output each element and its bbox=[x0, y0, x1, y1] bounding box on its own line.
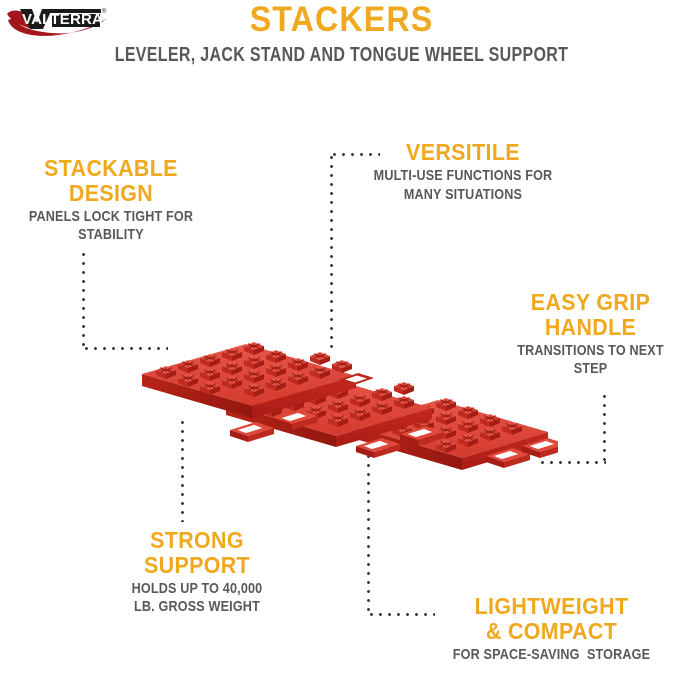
callout-title: LIGHTWEIGHT & COMPACT bbox=[429, 594, 674, 644]
connector-easygrip-vertical bbox=[603, 392, 606, 464]
callout-easy-grip-handle: EASY GRIP HANDLE TRANSITIONS TO NEXT STE… bbox=[498, 290, 683, 379]
callout-body: FOR SPACE-SAVING STORAGE bbox=[441, 646, 662, 665]
callout-title: VERSITILE bbox=[349, 140, 578, 165]
callout-title: STRONG SUPPORT bbox=[71, 528, 322, 578]
callout-body: TRANSITIONS TO NEXT STEP bbox=[513, 342, 668, 380]
callout-strong-support: STRONG SUPPORT HOLDS UP TO 40,000 LB. GR… bbox=[62, 528, 332, 617]
callout-versitile: VERSITILE MULTI-USE FUNCTIONS FOR MANY S… bbox=[340, 140, 586, 204]
callout-body: PANELS LOCK TIGHT FOR STABILITY bbox=[21, 208, 201, 246]
connector-stackable-vertical bbox=[82, 250, 85, 350]
callout-body: HOLDS UP TO 40,000 LB. GROSS WEIGHT bbox=[84, 580, 311, 618]
callout-title: STACKABLE DESIGN bbox=[11, 156, 210, 206]
infographic-page: VALTERRA ® STACKERS LEVELER, JACK STAND … bbox=[0, 0, 683, 673]
callout-title: EASY GRIP HANDLE bbox=[504, 290, 676, 340]
product-image-stacked-levelers bbox=[138, 322, 558, 482]
callout-stackable-design: STACKABLE DESIGN PANELS LOCK TIGHT FOR S… bbox=[4, 156, 218, 245]
page-title: STACKERS bbox=[27, 2, 655, 39]
callout-lightweight-compact: LIGHTWEIGHT & COMPACT FOR SPACE-SAVING S… bbox=[420, 594, 683, 664]
callout-body: MULTI-USE FUNCTIONS FOR MANY SITUATIONS bbox=[360, 167, 567, 205]
page-subtitle: LEVELER, JACK STAND AND TONGUE WHEEL SUP… bbox=[68, 44, 614, 67]
